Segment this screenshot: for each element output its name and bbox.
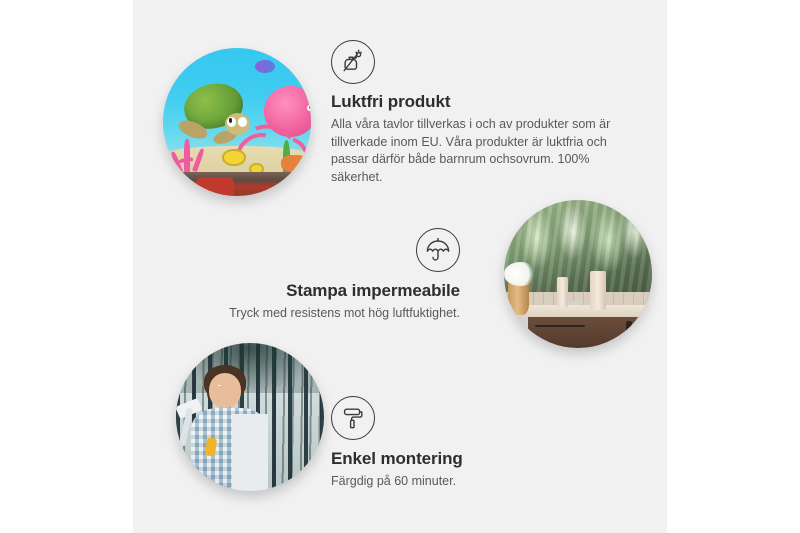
feature-block-odourless: Luktfri produkt Alla våra tavlor tillver… (331, 40, 631, 186)
turtle-eye (229, 118, 232, 123)
wooden-vanity (528, 317, 652, 348)
icon-row (331, 40, 631, 84)
yellow-fish (222, 149, 246, 167)
smile (218, 385, 221, 386)
feature-title: Luktfri produkt (331, 92, 631, 112)
product-feature-infographic: Luktfri produkt Alla våra tavlor tillver… (0, 0, 800, 533)
bathroom-scene (504, 200, 652, 348)
no-fragrance-spray-icon (331, 40, 375, 84)
feature-block-waterproof: Stampa impermeabile Tryck med resistens … (218, 228, 460, 323)
bathroom-bottle (557, 277, 567, 307)
turtle-eye (240, 118, 243, 123)
room-foreground-strip (163, 172, 311, 196)
painter-scene (176, 343, 324, 491)
white-flowers (504, 262, 537, 286)
woman-with-paint-roller-photo (176, 343, 324, 491)
umbrella-icon (416, 228, 460, 272)
octopus-eye (307, 105, 311, 112)
feature-block-assembly: Enkel montering Färgdig på 60 minuter. (331, 396, 621, 491)
feature-title: Enkel montering (331, 449, 621, 469)
icon-row (331, 396, 621, 440)
forest-canopy (176, 343, 324, 393)
feature-body: Alla våra tavlor tillverkas i och av pro… (331, 116, 631, 186)
underwater-cartoon-wallpaper-photo (163, 48, 311, 196)
icon-row (218, 228, 460, 272)
pink-coral (172, 134, 213, 172)
shirt-inner (232, 414, 268, 491)
bathroom-botanical-wallpaper-photo (504, 200, 652, 348)
paint-roller-icon (331, 396, 375, 440)
feature-body: Färgdig på 60 minuter. (331, 473, 621, 491)
face (209, 373, 242, 409)
feature-title: Stampa impermeabile (218, 281, 460, 301)
bathroom-bottle (590, 271, 606, 309)
ocean-scene (163, 48, 311, 196)
feature-body: Tryck med resistens mot hög luftfuktighe… (218, 305, 460, 323)
starfish (281, 155, 308, 173)
